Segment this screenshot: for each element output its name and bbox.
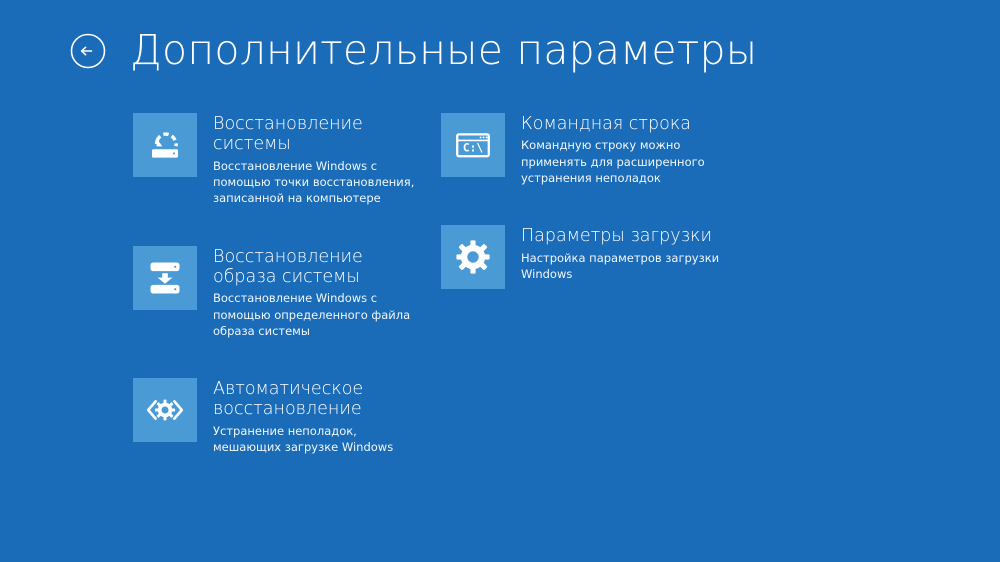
option-startup-settings[interactable]: Параметры загрузки Настройка параметров … xyxy=(441,225,741,289)
option-text: Параметры загрузки Настройка параметров … xyxy=(521,225,736,282)
option-title: Восстановление системы xyxy=(213,114,423,155)
option-tile: C:\ xyxy=(441,113,505,177)
option-command-prompt[interactable]: C:\ Командная строка Командную строку мо… xyxy=(441,113,741,186)
back-arrow-circle-icon xyxy=(68,31,108,71)
option-description: Настройка параметров загрузки Windows xyxy=(521,250,736,283)
option-description: Восстановление Windows с помощью точки в… xyxy=(213,158,421,207)
options-column-left: Восстановление системы Восстановление Wi… xyxy=(133,113,443,455)
command-prompt-icon-text: C:\ xyxy=(463,142,483,155)
command-prompt-icon: C:\ xyxy=(451,123,495,167)
option-text: Восстановление образа системы Восстановл… xyxy=(213,246,423,340)
option-title: Автоматическое восстановление xyxy=(213,379,423,420)
option-description: Командную строку можно применять для рас… xyxy=(521,137,736,186)
option-system-restore[interactable]: Восстановление системы Восстановление Wi… xyxy=(133,113,443,207)
system-restore-icon xyxy=(143,123,187,167)
option-automatic-repair[interactable]: Автоматическое восстановление Устранение… xyxy=(133,378,443,455)
option-tile xyxy=(133,246,197,310)
option-tile xyxy=(441,225,505,289)
options-column-right: C:\ Командная строка Командную строку мо… xyxy=(441,113,741,289)
option-system-image-recovery[interactable]: Восстановление образа системы Восстановл… xyxy=(133,246,443,340)
option-description: Устранение неполадок, мешающих загрузке … xyxy=(213,423,421,456)
option-title: Параметры загрузки xyxy=(521,226,736,246)
option-text: Командная строка Командную строку можно … xyxy=(521,113,736,186)
option-tile xyxy=(133,113,197,177)
option-text: Автоматическое восстановление Устранение… xyxy=(213,378,423,455)
option-title: Восстановление образа системы xyxy=(213,247,423,288)
option-tile xyxy=(133,378,197,442)
option-title: Командная строка xyxy=(521,114,736,134)
startup-settings-gear-icon xyxy=(451,235,495,279)
page-title: Дополнительные параметры xyxy=(130,30,757,71)
system-image-recovery-icon xyxy=(143,256,187,300)
back-button[interactable] xyxy=(68,31,108,71)
page-header: Дополнительные параметры xyxy=(68,30,757,71)
option-text: Восстановление системы Восстановление Wi… xyxy=(213,113,423,207)
option-description: Восстановление Windows с помощью определ… xyxy=(213,290,421,339)
advanced-options-screen: Дополнительные параметры xyxy=(0,0,1000,562)
automatic-repair-icon xyxy=(143,388,187,432)
